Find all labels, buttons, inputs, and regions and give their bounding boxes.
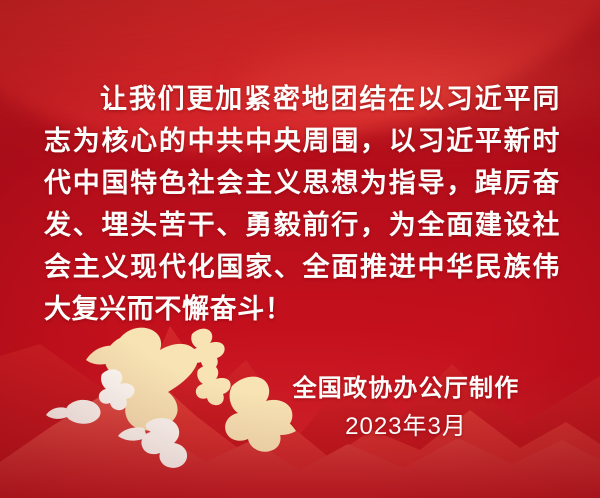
poster-canvas: 让我们更加紧密地团结在以习近平同志为核心的中共中央周围，以习近平新时代中国特色社… <box>0 0 600 498</box>
main-body-text: 让我们更加紧密地团结在以习近平同志为核心的中共中央周围，以习近平新时代中国特色社… <box>44 78 560 330</box>
signature-organization: 全国政协办公厅制作 <box>256 370 556 408</box>
signature-block: 全国政协办公厅制作 2023年3月 <box>256 370 556 446</box>
signature-date: 2023年3月 <box>256 408 556 446</box>
